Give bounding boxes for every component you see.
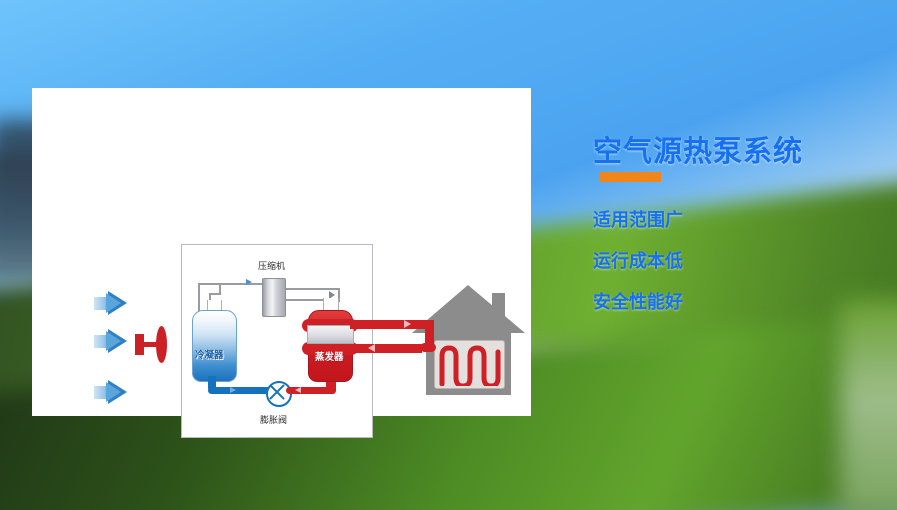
air-flow-arrow-icon [94, 380, 127, 405]
expansion-valve-label: 膨胀阀 [260, 413, 287, 426]
pipe-segment [198, 283, 220, 285]
house-elbow-pipe [420, 343, 436, 352]
feature-bullet: 适用范围广 [593, 206, 683, 232]
diagram-panel: 压缩机 膨胀阀 冷凝器 [32, 88, 531, 416]
slide-canvas: 压缩机 膨胀阀 冷凝器 [0, 0, 897, 510]
pipe-segment [219, 283, 264, 285]
fan-blade [156, 326, 167, 363]
flow-arrow-icon [230, 387, 236, 393]
pipe-segment [284, 288, 340, 290]
flow-arrow-icon [246, 279, 252, 285]
air-flow-arrow-icon [94, 329, 127, 354]
pipe-segment [284, 299, 325, 301]
condenser-tank [192, 310, 237, 382]
house-supply-pipe [350, 320, 434, 329]
feature-bullet: 安全性能好 [593, 288, 683, 314]
condenser-label: 冷凝器 [195, 347, 224, 361]
pipe-segment [198, 284, 200, 312]
evaporator-label: 蒸发器 [315, 349, 344, 363]
air-flow-arrow-icon [94, 291, 127, 316]
arrow-head-highlight [106, 331, 121, 351]
arrow-head-highlight [106, 382, 121, 402]
evaporator-plate [307, 325, 354, 344]
expansion-valve [266, 381, 292, 407]
compressor-label: 压缩机 [258, 259, 285, 272]
title-accent-bar [600, 172, 661, 182]
page-title: 空气源热泵系统 [593, 128, 803, 170]
fan-icon [135, 326, 169, 362]
arrow-head-highlight [106, 293, 121, 313]
flow-arrow-icon [404, 320, 411, 328]
feature-bullet: 运行成本低 [593, 247, 683, 273]
flow-arrow-icon [368, 344, 375, 352]
blurred-right-verge [840, 300, 897, 510]
pipe-segment [219, 284, 221, 294]
compressor-unit [262, 278, 286, 317]
flow-arrow-icon [295, 387, 301, 393]
house-chimney [492, 293, 505, 327]
house-return-pipe [350, 344, 422, 353]
floor-heating-coil-icon [436, 342, 502, 386]
liquid-line [208, 387, 270, 394]
